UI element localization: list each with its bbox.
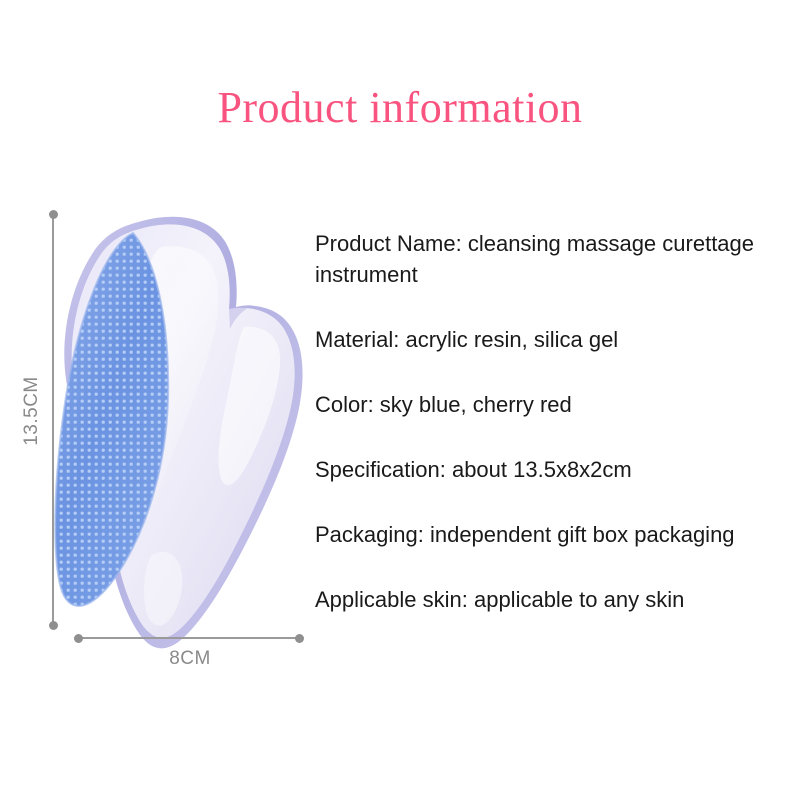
height-dimension-line — [52, 214, 54, 626]
width-dimension-endpoint-right — [295, 634, 304, 643]
height-dimension-label: 13.5CM — [21, 361, 43, 461]
spec-color: Color: sky blue, cherry red — [315, 389, 795, 420]
spec-product-name: Product Name: cleansing massage curettag… — [315, 228, 795, 290]
spec-specification: Specification: about 13.5x8x2cm — [315, 454, 795, 485]
gua-sha-tool-illustration — [30, 195, 330, 665]
height-dimension-endpoint-bottom — [49, 621, 58, 630]
product-information-page: Product information — [0, 0, 800, 800]
height-dimension-endpoint-top — [49, 210, 58, 219]
spec-applicable-skin: Applicable skin: applicable to any skin — [315, 584, 795, 615]
width-dimension-line — [78, 637, 300, 639]
specification-list: Product Name: cleansing massage curettag… — [315, 228, 795, 615]
spec-material: Material: acrylic resin, silica gel — [315, 324, 795, 355]
spec-packaging: Packaging: independent gift box packagin… — [315, 519, 795, 550]
page-title: Product information — [0, 82, 800, 133]
product-image — [30, 195, 330, 665]
width-dimension-endpoint-left — [74, 634, 83, 643]
width-dimension-label: 8CM — [130, 648, 250, 670]
